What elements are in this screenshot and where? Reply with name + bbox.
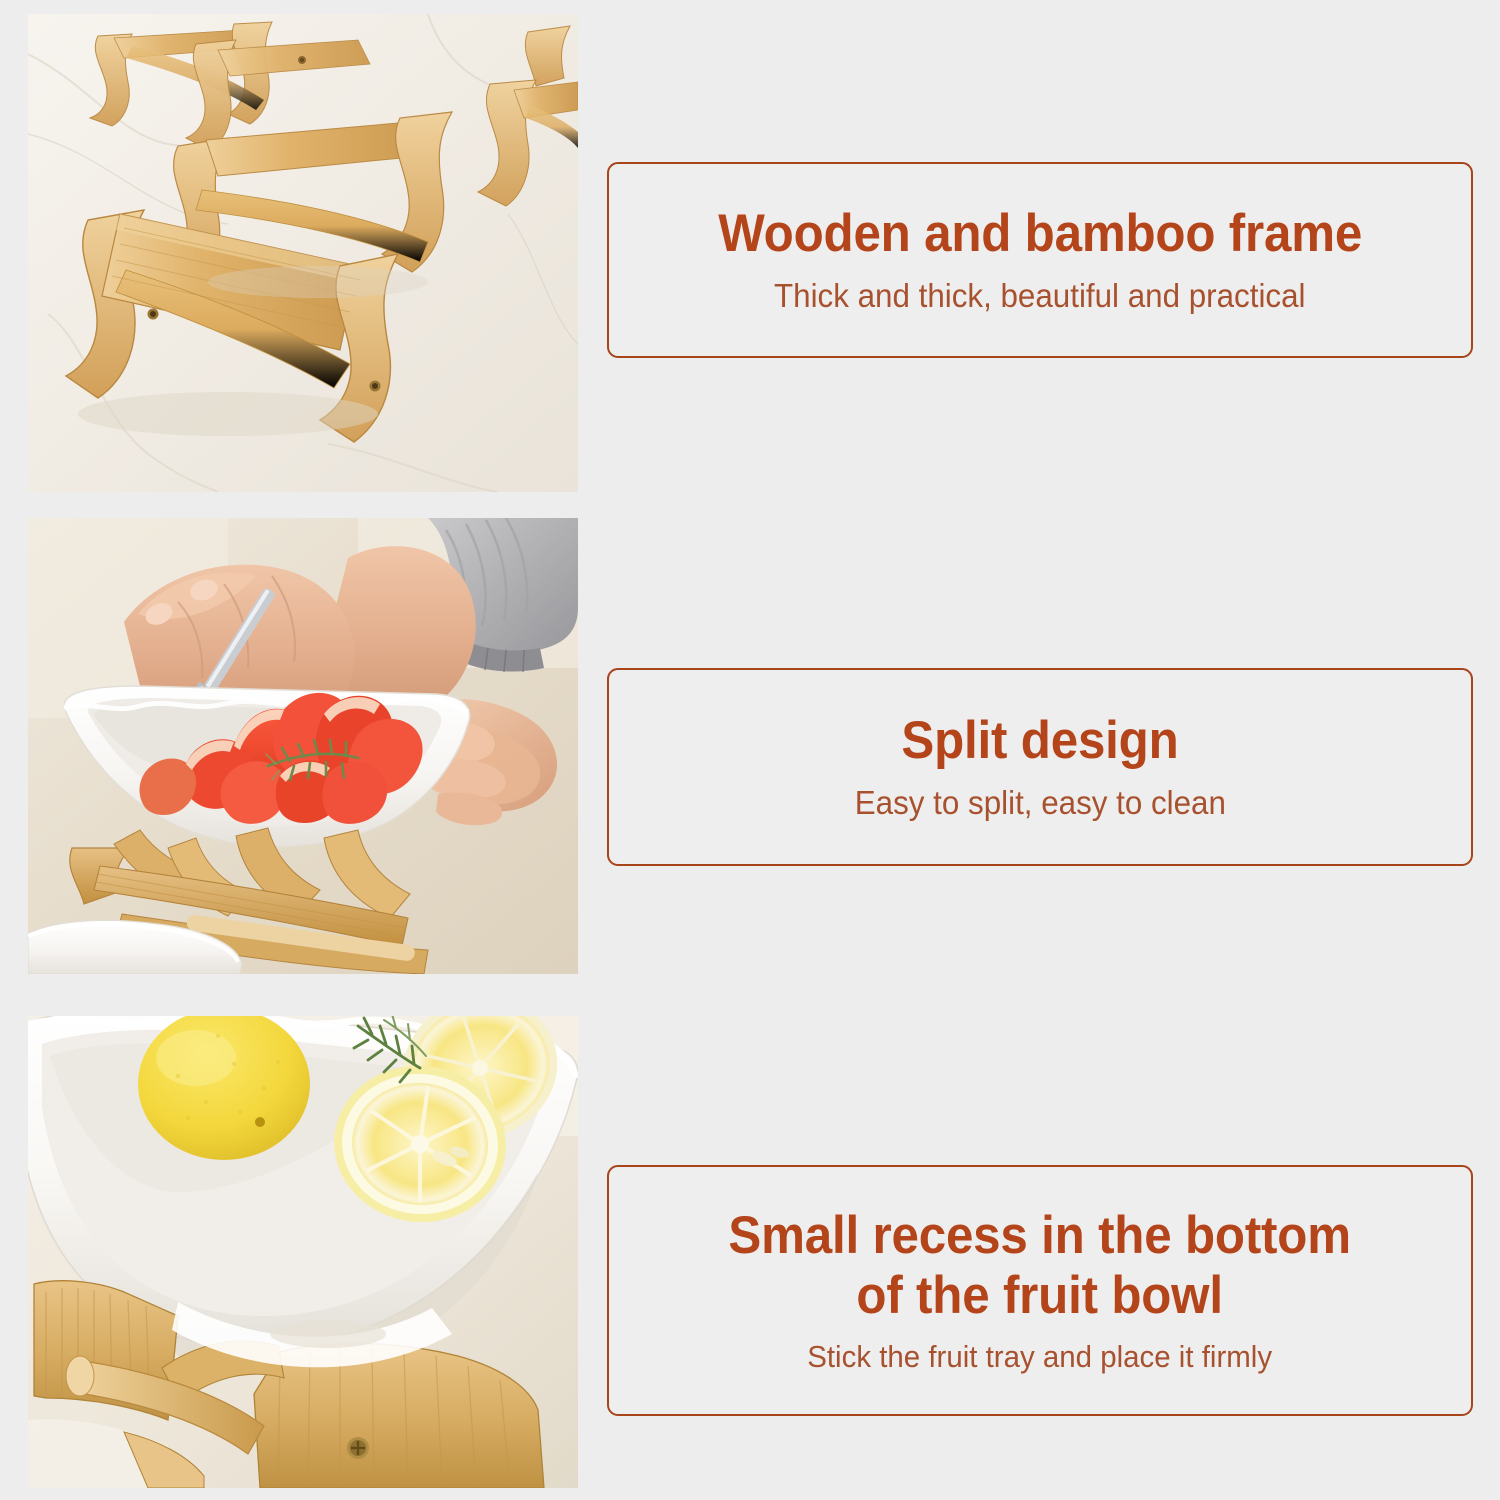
feature-subtitle: Stick the fruit tray and place it firmly	[808, 1338, 1273, 1375]
product-photo-split-design	[28, 518, 578, 974]
feature-card-wooden-bamboo-frame: Wooden and bamboo frame Thick and thick,…	[607, 162, 1473, 358]
feature-subtitle: Easy to split, easy to clean	[854, 783, 1225, 823]
feature-card-bowl-recess: Small recess in the bottom of the fruit …	[607, 1165, 1473, 1416]
feature-subtitle: Thick and thick, beautiful and practical	[774, 276, 1306, 316]
product-photo-bamboo-frames	[28, 14, 578, 492]
feature-title: Wooden and bamboo frame	[718, 204, 1362, 264]
product-photo-bowl-recess	[28, 1016, 578, 1488]
feature-card-split-design: Split design Easy to split, easy to clea…	[607, 668, 1473, 866]
infographic-page: Wooden and bamboo frame Thick and thick,…	[0, 0, 1500, 1500]
feature-title: Small recess in the bottom of the fruit …	[729, 1206, 1351, 1326]
feature-title: Split design	[901, 711, 1178, 771]
